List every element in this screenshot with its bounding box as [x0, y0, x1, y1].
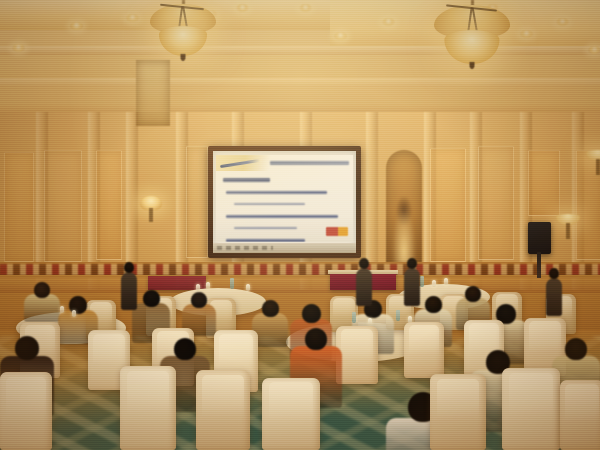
person-head: [124, 262, 134, 273]
banquet-chair: [502, 368, 560, 450]
person-body: [356, 268, 372, 306]
person-head: [143, 290, 160, 307]
drinking-glass: [368, 318, 372, 325]
drinking-glass: [246, 284, 250, 291]
downlight-icon: [236, 4, 249, 12]
slide-bullet-line: [234, 203, 305, 205]
chandelier-finial: [181, 54, 186, 61]
banquet-chair: [196, 370, 250, 450]
drinking-glass: [432, 280, 436, 287]
wall-sconce-left-stem: [149, 208, 153, 222]
person-head: [34, 282, 50, 298]
drinking-glass: [60, 306, 64, 313]
person-head: [465, 286, 481, 302]
person-head: [302, 304, 321, 323]
slide-heading-text: [223, 178, 270, 182]
wall-sconce-far-right-stem: [596, 159, 600, 175]
banquet-chair: [120, 366, 176, 450]
drinking-glass: [72, 310, 76, 317]
downlight-icon: [520, 30, 533, 38]
person-head: [174, 338, 196, 360]
downlight-icon: [299, 4, 312, 12]
person-head: [359, 258, 369, 269]
person-head: [407, 258, 417, 269]
person-head: [565, 338, 587, 360]
person-body: [404, 268, 420, 306]
downlight-icon: [382, 18, 395, 26]
banquet-chair: [404, 322, 444, 378]
attendee: [24, 282, 60, 326]
person-body: [121, 272, 137, 310]
banquet-chair: [430, 374, 486, 450]
chandelier-right: [432, 0, 513, 110]
wall-base: [0, 275, 600, 293]
projection-screen[interactable]: [208, 146, 361, 258]
person-head: [15, 336, 39, 360]
person-head: [549, 268, 559, 279]
standing-attendee-far-right: [546, 268, 562, 314]
person-head: [191, 292, 207, 308]
standing-attendee-center: [121, 262, 137, 308]
person-head: [262, 300, 279, 317]
downlight-icon: [334, 32, 347, 40]
slide-title-text: [270, 161, 349, 165]
chandelier-finial: [470, 62, 475, 69]
standing-attendee-right: [404, 258, 420, 304]
drinking-glass: [196, 284, 200, 291]
downlight-icon: [126, 14, 139, 22]
drinking-glass: [206, 282, 210, 289]
alcove-glow: [392, 205, 416, 263]
pa-speaker-stand: [537, 252, 541, 278]
slide-logo-icon: [326, 227, 348, 236]
wall-sconce-right-stem: [566, 223, 570, 239]
presentation-slide: [216, 155, 353, 242]
banquet-chair: [560, 380, 600, 450]
chandelier-bowl: [159, 26, 207, 56]
person-body: [546, 278, 562, 316]
downlight-icon: [12, 44, 25, 52]
screen-surface: [213, 151, 356, 253]
slide-bullet-line: [234, 227, 297, 229]
drinking-glass: [444, 278, 448, 285]
chandelier-bowl: [445, 30, 500, 65]
water-bottle: [396, 310, 400, 321]
person-body: [24, 294, 60, 322]
slide-bullet-line: [226, 239, 305, 242]
slide-bullet-line: [226, 215, 338, 218]
conference-hall-photo: [0, 0, 600, 450]
downlight-icon: [588, 46, 600, 54]
pa-speaker: [528, 222, 551, 254]
water-bottle: [230, 278, 234, 289]
banquet-chair: [336, 326, 378, 384]
desktop-taskbar: [213, 243, 356, 253]
water-bottle: [420, 276, 424, 287]
banquet-chair: [0, 372, 52, 450]
water-bottle: [352, 312, 356, 323]
dado-decorative-pattern: [0, 264, 600, 275]
downlight-icon: [70, 22, 83, 30]
person-head: [425, 296, 442, 313]
banquet-chair: [262, 378, 320, 450]
person-head: [305, 328, 327, 350]
presenter: [356, 258, 372, 304]
downlight-icon: [556, 18, 569, 26]
slide-bullet-line: [226, 191, 327, 194]
